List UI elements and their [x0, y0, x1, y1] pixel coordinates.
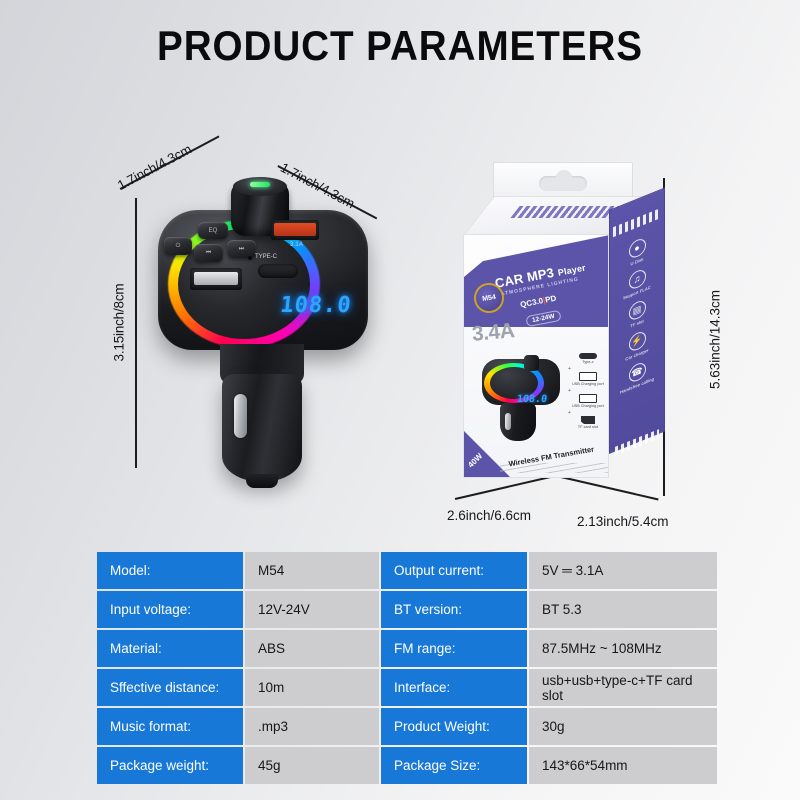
spec-key: Output current:	[381, 552, 527, 589]
spec-value: M54	[245, 552, 379, 589]
plug-side-contact	[234, 394, 247, 438]
spec-key: FM range:	[381, 630, 527, 667]
spec-value: 12V-24V	[245, 591, 379, 628]
package-dimension-label-height: 5.63inch/14.3cm	[708, 265, 723, 415]
port-legend-label: TF card slot	[578, 425, 598, 429]
spec-key: Package weight:	[97, 747, 243, 784]
next-track-button: ⏭	[227, 240, 256, 258]
spec-value: ABS	[245, 630, 379, 667]
usb-standard-port-tongue	[194, 272, 238, 285]
spec-key: Input voltage:	[97, 591, 243, 628]
spec-key: Music format:	[97, 708, 243, 745]
box-front-bottom-banner: 40W Wireless FM Transmitter	[464, 431, 609, 477]
spec-value: 45g	[245, 747, 379, 784]
port-legend-item: USB Charging port	[568, 394, 608, 408]
dimension-label-height: 3.15inch/8cm	[112, 258, 127, 388]
spec-value: BT 5.3	[529, 591, 717, 628]
table-row: Sffective distance: 10m Interface: usb+u…	[97, 669, 703, 706]
port-legend-label: Type-c	[582, 360, 593, 364]
port-legend-item: USB Charging port	[568, 372, 608, 386]
eq-button: EQ	[198, 222, 228, 239]
box-amperage-text: 3.4A	[471, 319, 515, 347]
feature-label: U Disk	[631, 256, 644, 266]
box-feature-icon-list: ● U Disk ♫ Support FLAC ▤ TF slot ⚡ Car …	[611, 229, 663, 405]
table-row: Input voltage: 12V-24V BT version: BT 5.…	[97, 591, 703, 628]
spec-value: .mp3	[245, 708, 379, 745]
spec-value: 10m	[245, 669, 379, 706]
product-hero-section: 1.7inch/4.3cm 1.7inch/4.3cm 3.15inch/8cm…	[0, 130, 800, 530]
spec-value: 30g	[529, 708, 717, 745]
microphone-hole	[248, 256, 252, 260]
dimension-line-left	[135, 198, 137, 468]
port-legend-item: TF card slot	[568, 416, 608, 429]
spec-key: Product Weight:	[381, 708, 527, 745]
spec-key: BT version:	[381, 591, 527, 628]
type-c-port	[258, 264, 298, 278]
spec-value: 5V ═ 3.1A	[529, 552, 717, 589]
spec-value: 87.5MHz ~ 108MHz	[529, 630, 717, 667]
tf-card-slot-icon	[581, 416, 595, 424]
previous-track-button: ⏮	[194, 244, 223, 262]
spec-value: 143*66*54mm	[529, 747, 717, 784]
port-legend-label: USB Charging port	[572, 382, 604, 386]
power-button: ⏻	[164, 237, 192, 255]
car-charger-device: EQ ⏻ ⏮ ⏭ 3.1A TYPE-C 108.0	[158, 182, 368, 512]
usb-port-icon	[579, 394, 597, 403]
spec-key: Material:	[97, 630, 243, 667]
box-front-face: CAR MP3 Player ATMOSPHERE LIGHTING QC3.0…	[463, 234, 609, 478]
specification-table: Model: M54 Output current: 5V ═ 3.1A Inp…	[97, 552, 703, 784]
page-title: PRODUCT PARAMETERS	[32, 22, 768, 70]
table-row: Music format: .mp3 Product Weight: 30g	[97, 708, 703, 745]
retail-box: CAR MP3 Player ATMOSPHERE LIGHTING QC3.0…	[457, 162, 665, 492]
device-illustration-group: 1.7inch/4.3cm 1.7inch/4.3cm 3.15inch/8cm…	[110, 150, 420, 520]
port-legend-item: Type-c	[568, 353, 608, 364]
table-row: Package weight: 45g Package Size: 143*66…	[97, 747, 703, 784]
euro-hang-slot-bump	[556, 170, 572, 184]
usb-qc-port-tongue	[274, 223, 316, 236]
product-parameters-page: PRODUCT PARAMETERS 1.7inch/4.3cm 1.7inch…	[0, 0, 800, 800]
box-front-product-render: 108.0	[482, 353, 568, 441]
package-illustration-group: 5.63inch/14.3cm 2.6inch/6.6cm 2.13inch/5…	[435, 140, 765, 530]
led-frequency-display: 108.0	[278, 290, 353, 320]
spec-value: usb+usb+type-c+TF card slot	[529, 669, 717, 706]
box-port-legend: Type-c + USB Charging port + USB Chargin…	[568, 353, 608, 432]
spec-key: Package Size:	[381, 747, 527, 784]
spec-key: Sffective distance:	[97, 669, 243, 706]
table-row: Model: M54 Output current: 5V ═ 3.1A	[97, 552, 703, 589]
spec-key: Model:	[97, 552, 243, 589]
knob-indicator-led	[250, 182, 270, 187]
render-plug-contact	[505, 413, 511, 430]
table-row: Material: ABS FM range: 87.5MHz ~ 108MHz	[97, 630, 703, 667]
port-legend-label: USB Charging port	[572, 404, 604, 408]
package-dimension-label-width: 2.6inch/6.6cm	[447, 508, 531, 523]
type-c-port-icon	[579, 353, 597, 359]
type-c-port-label: TYPE-C	[255, 254, 277, 260]
package-dimension-label-depth: 2.13inch/5.4cm	[577, 514, 669, 529]
feature-label: TF slot	[630, 318, 644, 328]
plug-tip	[246, 474, 278, 488]
render-knob	[524, 355, 539, 371]
usb-port-icon	[579, 372, 597, 381]
box-top-brand-strip	[510, 206, 619, 218]
usb-qc-port-label: 3.1A	[290, 242, 303, 248]
spec-key: Interface:	[381, 669, 527, 706]
